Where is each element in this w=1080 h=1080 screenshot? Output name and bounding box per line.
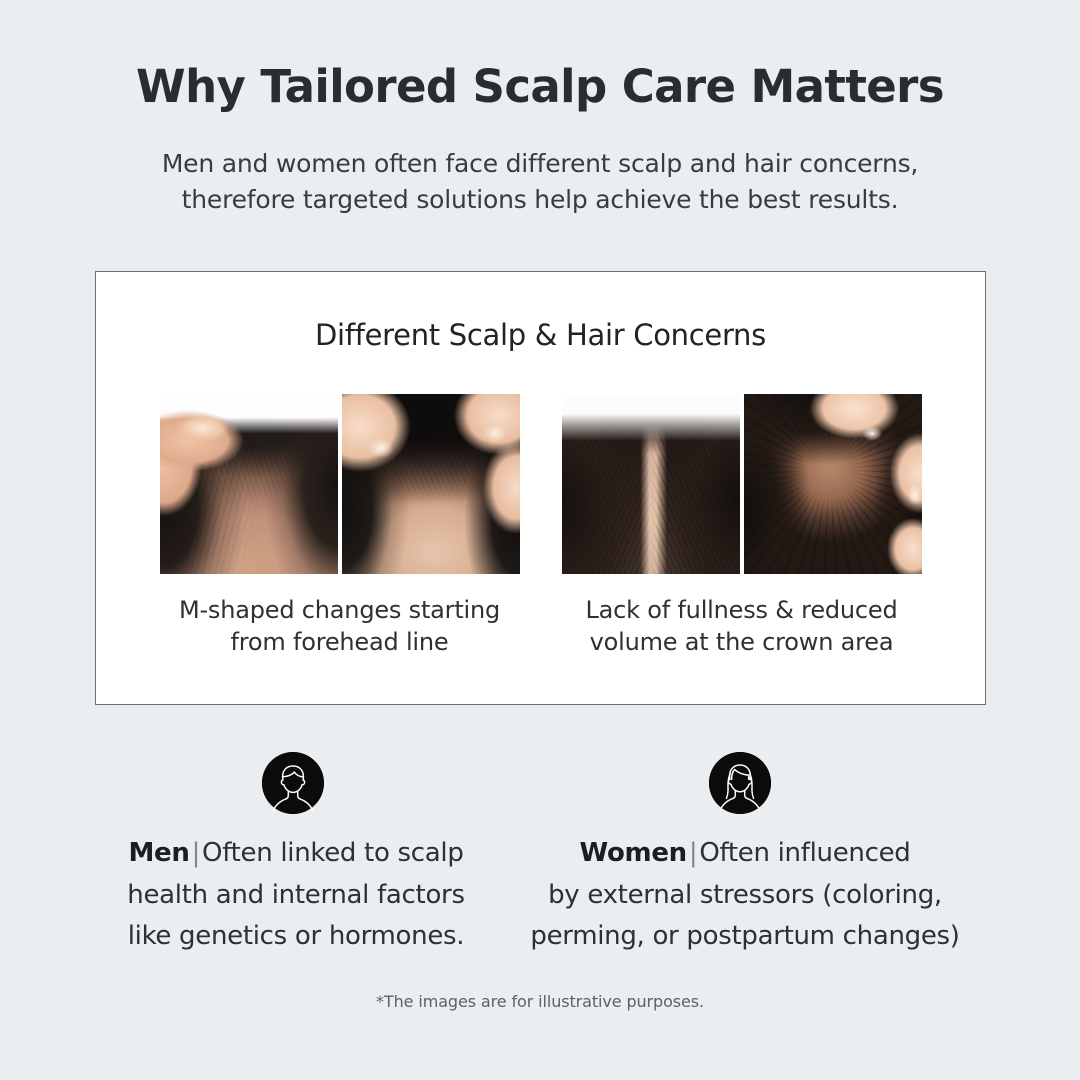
description-men-separator: |: [190, 838, 202, 868]
description-women-label: Women: [580, 838, 687, 868]
description-men-label: Men: [128, 838, 189, 868]
photo-row: [96, 394, 985, 574]
photo-women-crown-1: [562, 394, 740, 574]
description-women-line-2: by external stressors (coloring,: [500, 875, 990, 917]
caption-women-line-2: volume at the crown area: [562, 626, 922, 658]
description-men-line-2: health and internal factors: [96, 875, 496, 917]
avatar-row: [0, 752, 1080, 816]
page-title: Why Tailored Scalp Care Matters: [0, 62, 1080, 112]
caption-men-line-2: from forehead line: [160, 626, 520, 658]
photo-women-crown-2: [744, 394, 922, 574]
photo-men-hairline-1: [160, 394, 338, 574]
photo-men-hairline-2: [342, 394, 520, 574]
description-men-line-3: like genetics or hormones.: [96, 916, 496, 958]
promo-page: Why Tailored Scalp Care Matters Men and …: [0, 0, 1080, 1080]
page-subtitle: Men and women often face different scalp…: [0, 146, 1080, 217]
description-men-text-1: Often linked to scalp: [202, 838, 463, 868]
page-subtitle-line-2: therefore targeted solutions help achiev…: [0, 182, 1080, 218]
footnote: *The images are for illustrative purpose…: [0, 992, 1080, 1011]
description-women-line-3: perming, or postpartum changes): [500, 916, 990, 958]
description-women-text-1: Often influenced: [699, 838, 910, 868]
caption-row: M-shaped changes starting from forehead …: [96, 594, 985, 658]
caption-women-line-1: Lack of fullness & reduced: [562, 594, 922, 626]
photo-group-women: [562, 394, 922, 574]
description-men: Men|Often linked to scalp health and int…: [96, 833, 496, 958]
male-avatar-icon: [262, 752, 324, 814]
description-women-line-1: Women|Often influenced: [500, 833, 990, 875]
concerns-card: Different Scalp & Hair Concerns: [95, 271, 986, 705]
description-women-separator: |: [687, 838, 699, 868]
caption-women: Lack of fullness & reduced volume at the…: [562, 594, 922, 658]
description-men-line-1: Men|Often linked to scalp: [96, 833, 496, 875]
caption-men: M-shaped changes starting from forehead …: [160, 594, 520, 658]
card-title: Different Scalp & Hair Concerns: [96, 318, 985, 352]
caption-men-line-1: M-shaped changes starting: [160, 594, 520, 626]
page-subtitle-line-1: Men and women often face different scalp…: [0, 146, 1080, 182]
photo-group-men: [160, 394, 520, 574]
female-avatar-icon: [709, 752, 771, 814]
description-women: Women|Often influenced by external stres…: [500, 833, 990, 958]
